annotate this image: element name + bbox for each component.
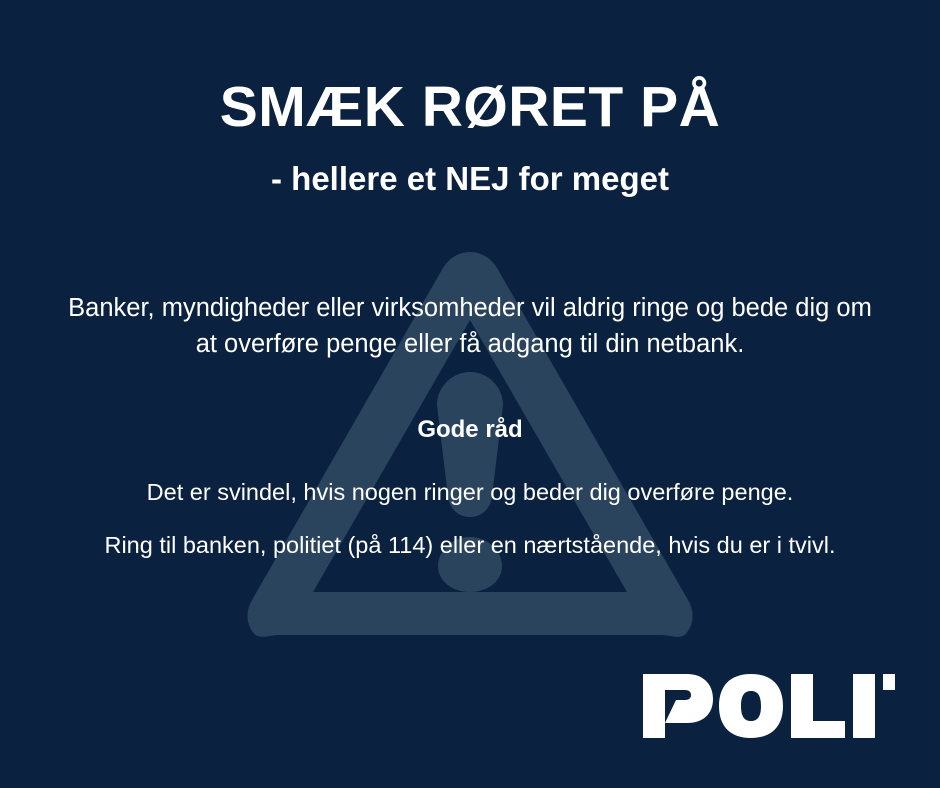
tips-heading: Gode råd	[0, 416, 940, 445]
tip-item: Ring til banken, politiet (på 114) eller…	[40, 530, 900, 561]
politi-logo-icon: POLITI	[643, 674, 895, 738]
page-subtitle: - hellere et NEJ for meget	[0, 161, 940, 197]
poster-content: SMÆK RØRET PÅ - hellere et NEJ for meget…	[0, 0, 940, 788]
politi-logo: POLITI	[643, 674, 895, 738]
tip-item: Det er svindel, hvis nogen ringer og bed…	[40, 477, 900, 508]
police-scam-warning-poster: SMÆK RØRET PÅ - hellere et NEJ for meget…	[0, 0, 940, 788]
page-title: SMÆK RØRET PÅ	[0, 78, 940, 138]
intro-paragraph: Banker, myndigheder eller virksomheder v…	[58, 290, 882, 362]
